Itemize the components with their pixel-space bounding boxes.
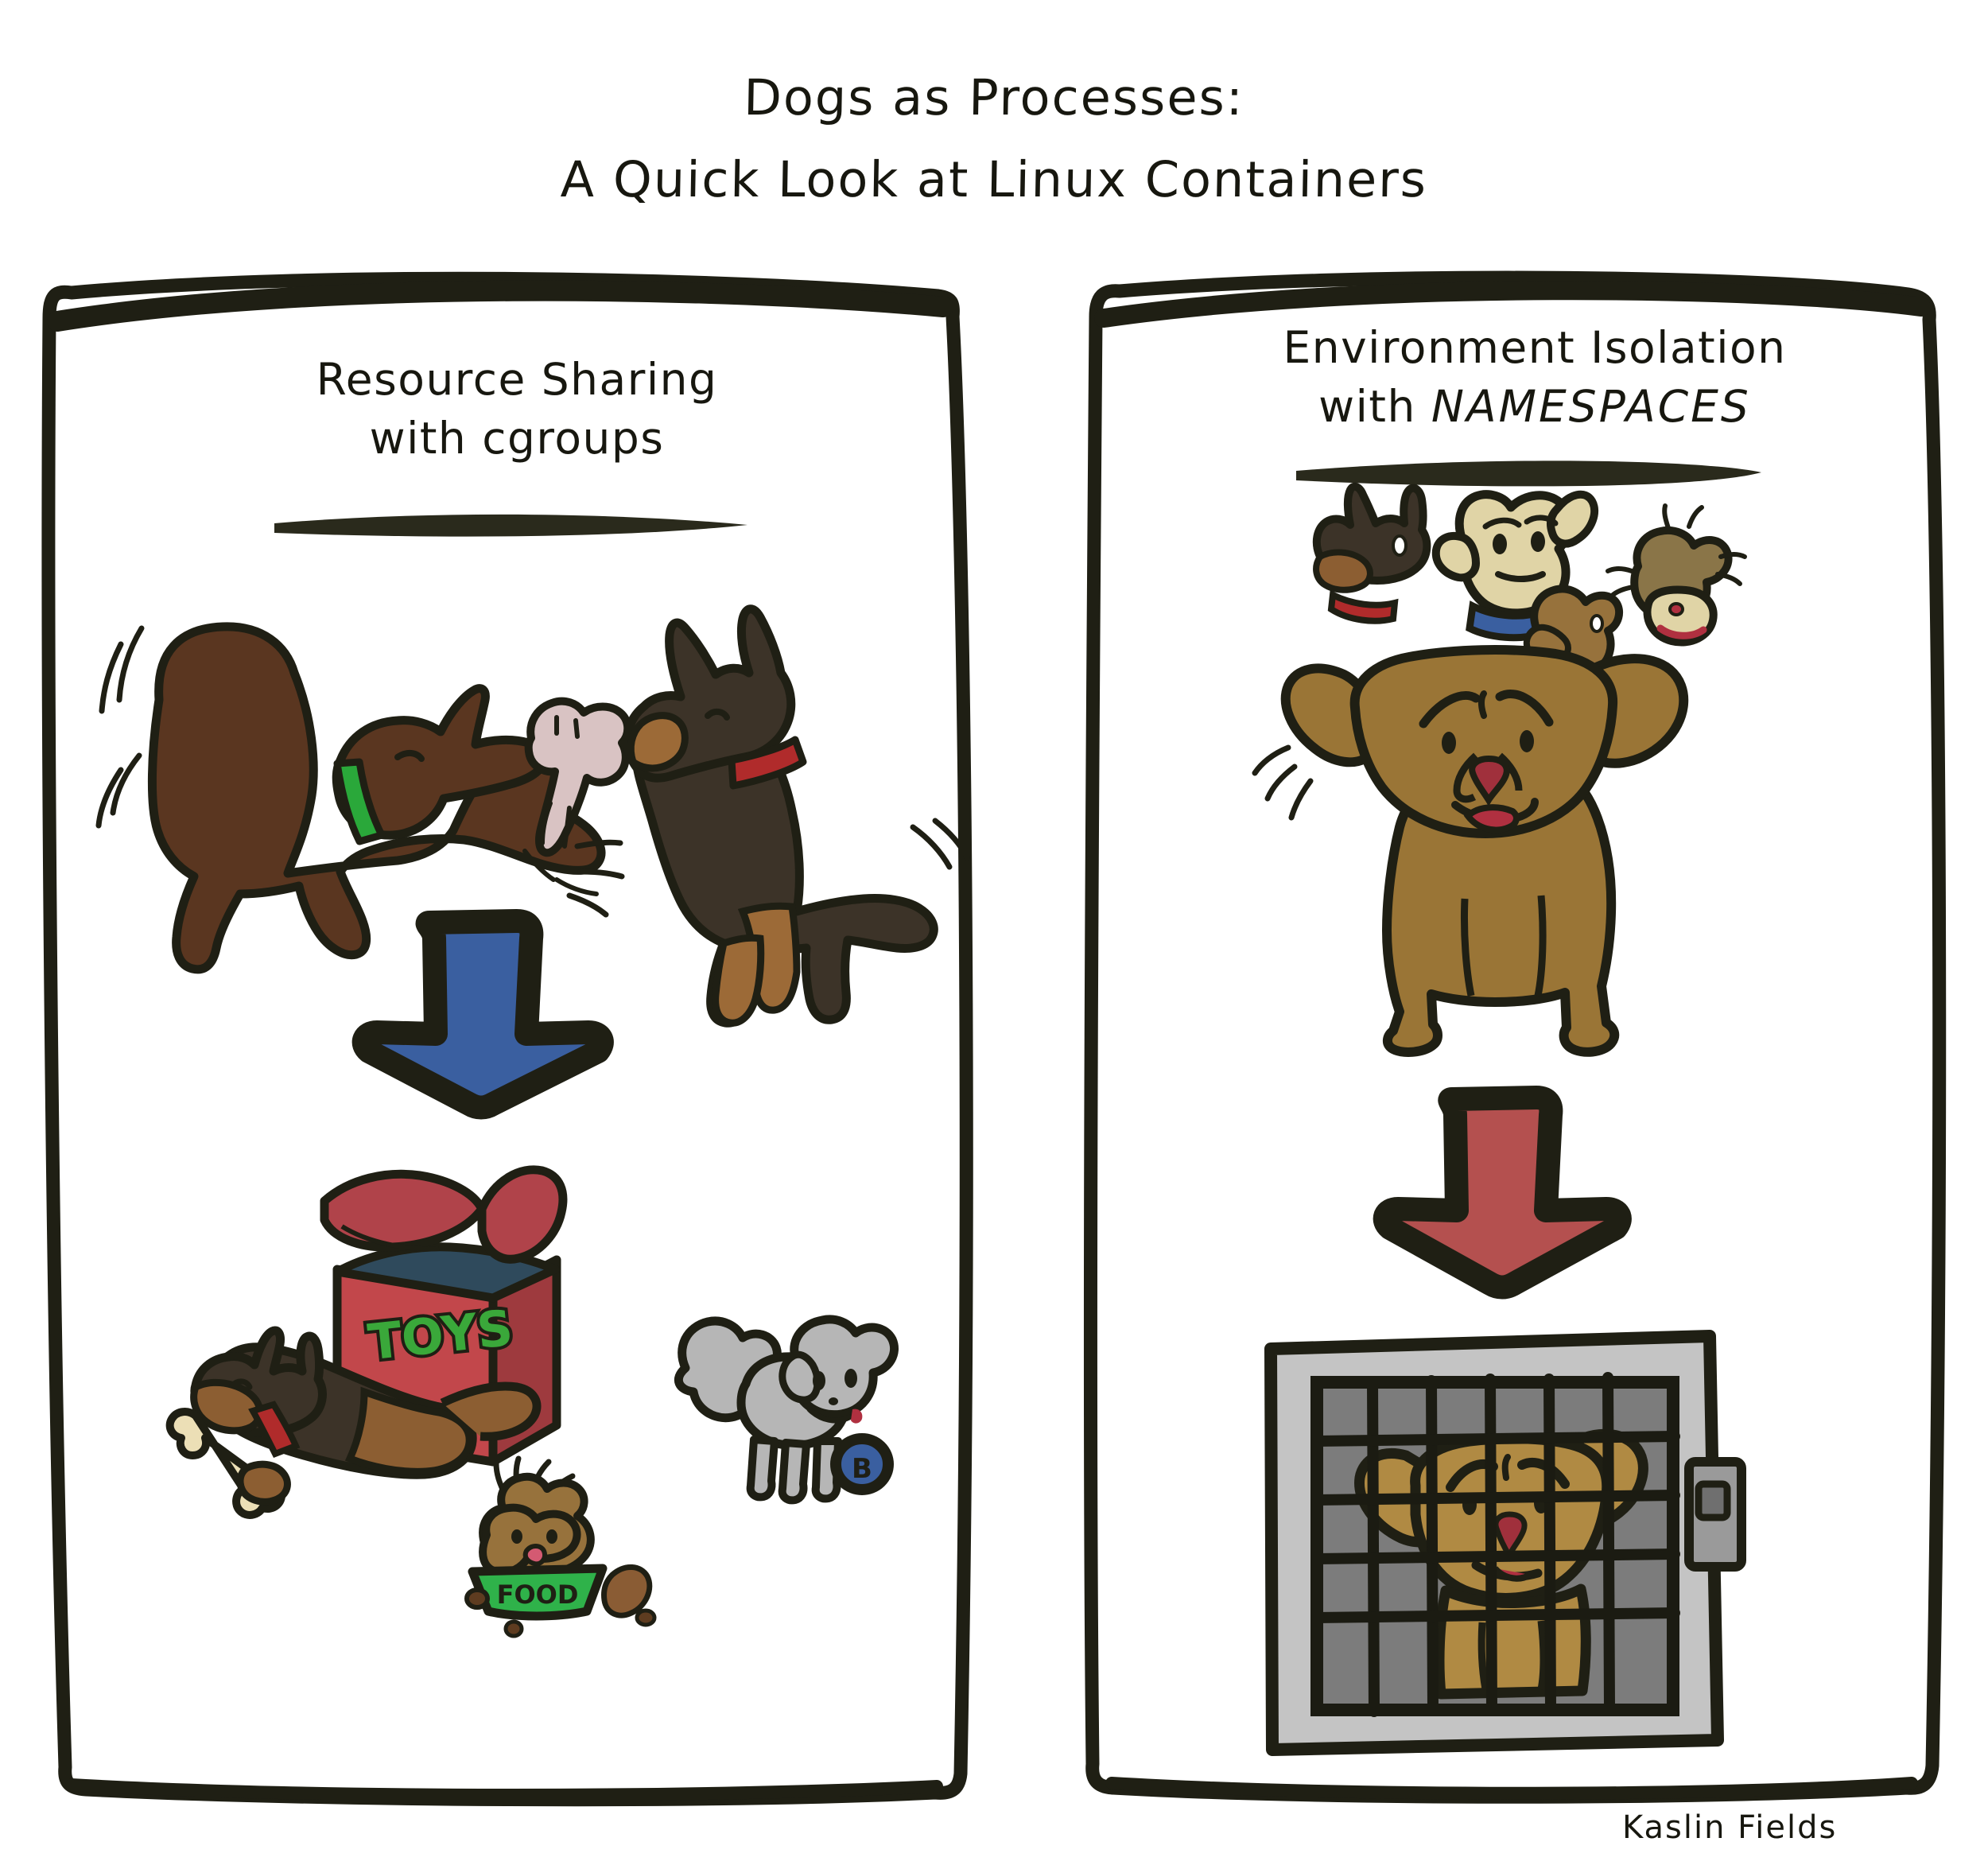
comic-artwork: TOYS [0, 0, 1988, 1869]
blue-ball-label: B [852, 1453, 872, 1485]
heading-cgroups: Resource Sharing with cgroups [159, 350, 875, 468]
shaggy-dog-head [1608, 506, 1745, 643]
heading-namespaces: Environment Isolation with NAMESPACES [1177, 318, 1893, 437]
motion-lines-left [99, 628, 142, 826]
scene-resource-sharing: TOYS [170, 1170, 895, 1636]
heading-namespaces-prefix: with [1318, 381, 1431, 432]
doberman-head [1316, 487, 1427, 621]
crate-latch[interactable] [1689, 1462, 1741, 1567]
heading-namespaces-line1: Environment Isolation [1177, 318, 1893, 377]
heading-cgroups-line2: with cgroups [159, 409, 875, 468]
food-bowl-dog: FOOD [467, 1459, 654, 1636]
heading-namespaces-emphasis: NAMESPACES [1431, 381, 1751, 432]
down-arrow-blue [364, 921, 602, 1108]
heading-underline-right [1296, 460, 1761, 486]
comic-canvas: Dogs as Processes: A Quick Look at Linux… [0, 0, 1988, 1869]
heading-underline-left [274, 515, 747, 537]
doberman-dog [627, 609, 967, 1024]
food-bowl-label: FOOD [497, 1580, 579, 1610]
dog-in-crate [1271, 1336, 1741, 1750]
down-arrow-red [1385, 1098, 1620, 1288]
blue-ball: B [836, 1439, 888, 1490]
heading-cgroups-line1: Resource Sharing [159, 350, 875, 409]
grumpy-brown-dog [1255, 650, 1683, 1052]
artist-signature: Kaslin Fields [1622, 1809, 1837, 1846]
